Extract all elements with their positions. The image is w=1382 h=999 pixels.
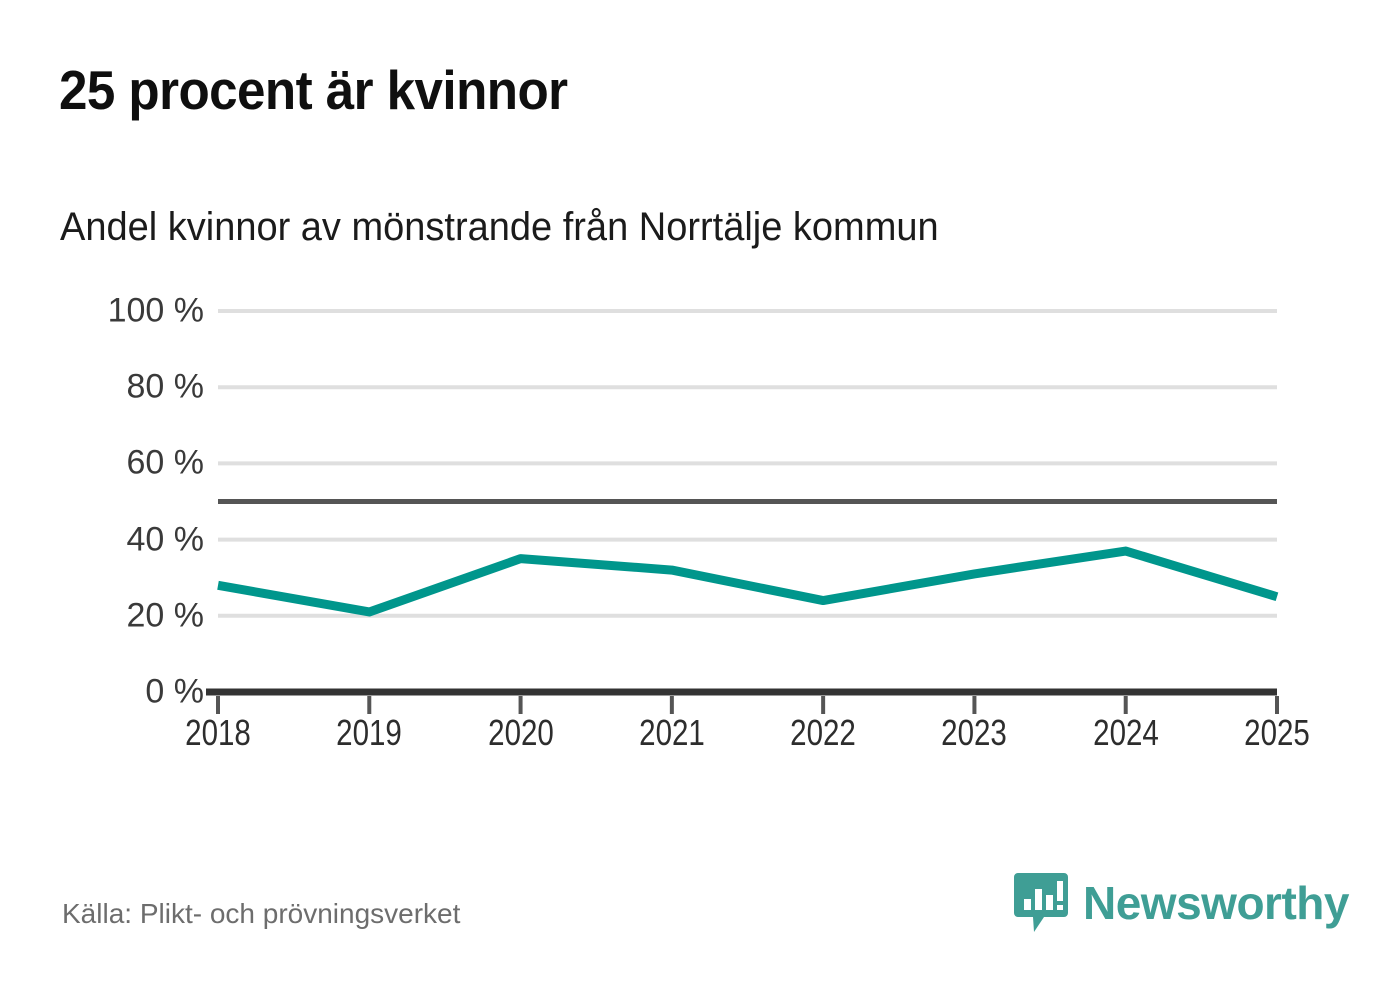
- data-series-line: [218, 551, 1277, 612]
- newsworthy-logo: Newsworthy: [1013, 869, 1349, 937]
- y-tick-label: 100 %: [108, 292, 204, 331]
- y-tick-label: 20 %: [127, 596, 205, 635]
- x-tick-label: 2021: [639, 712, 705, 754]
- newsworthy-bubble-chart-icon: [1013, 871, 1069, 935]
- chart-plot-area: [0, 0, 1382, 999]
- y-tick-label: 60 %: [127, 444, 205, 483]
- y-tick-label: 80 %: [127, 368, 205, 407]
- x-tick-label: 2020: [488, 712, 554, 754]
- newsworthy-wordmark: Newsworthy: [1083, 876, 1349, 930]
- x-tick-label: 2022: [790, 712, 856, 754]
- x-tick-label: 2019: [336, 712, 402, 754]
- y-tick-label: 0 %: [145, 673, 204, 712]
- x-tick-label: 2018: [185, 712, 251, 754]
- y-tick-label: 40 %: [127, 520, 205, 559]
- source-note: Källa: Plikt- och prövningsverket: [62, 898, 460, 930]
- y-axis-labels: 0 %20 %40 %60 %80 %100 %: [96, 0, 204, 999]
- x-tick-label: 2024: [1093, 712, 1159, 754]
- x-tick-label: 2023: [942, 712, 1008, 754]
- line-chart: 0 %20 %40 %60 %80 %100 % 201820192020202…: [0, 0, 1382, 999]
- x-axis-labels: 20182019202020212022202320242025: [218, 712, 1277, 772]
- x-tick-label: 2025: [1244, 712, 1310, 754]
- chart-page: 25 procent är kvinnor Andel kvinnor av m…: [0, 0, 1382, 999]
- gridlines: [218, 311, 1277, 616]
